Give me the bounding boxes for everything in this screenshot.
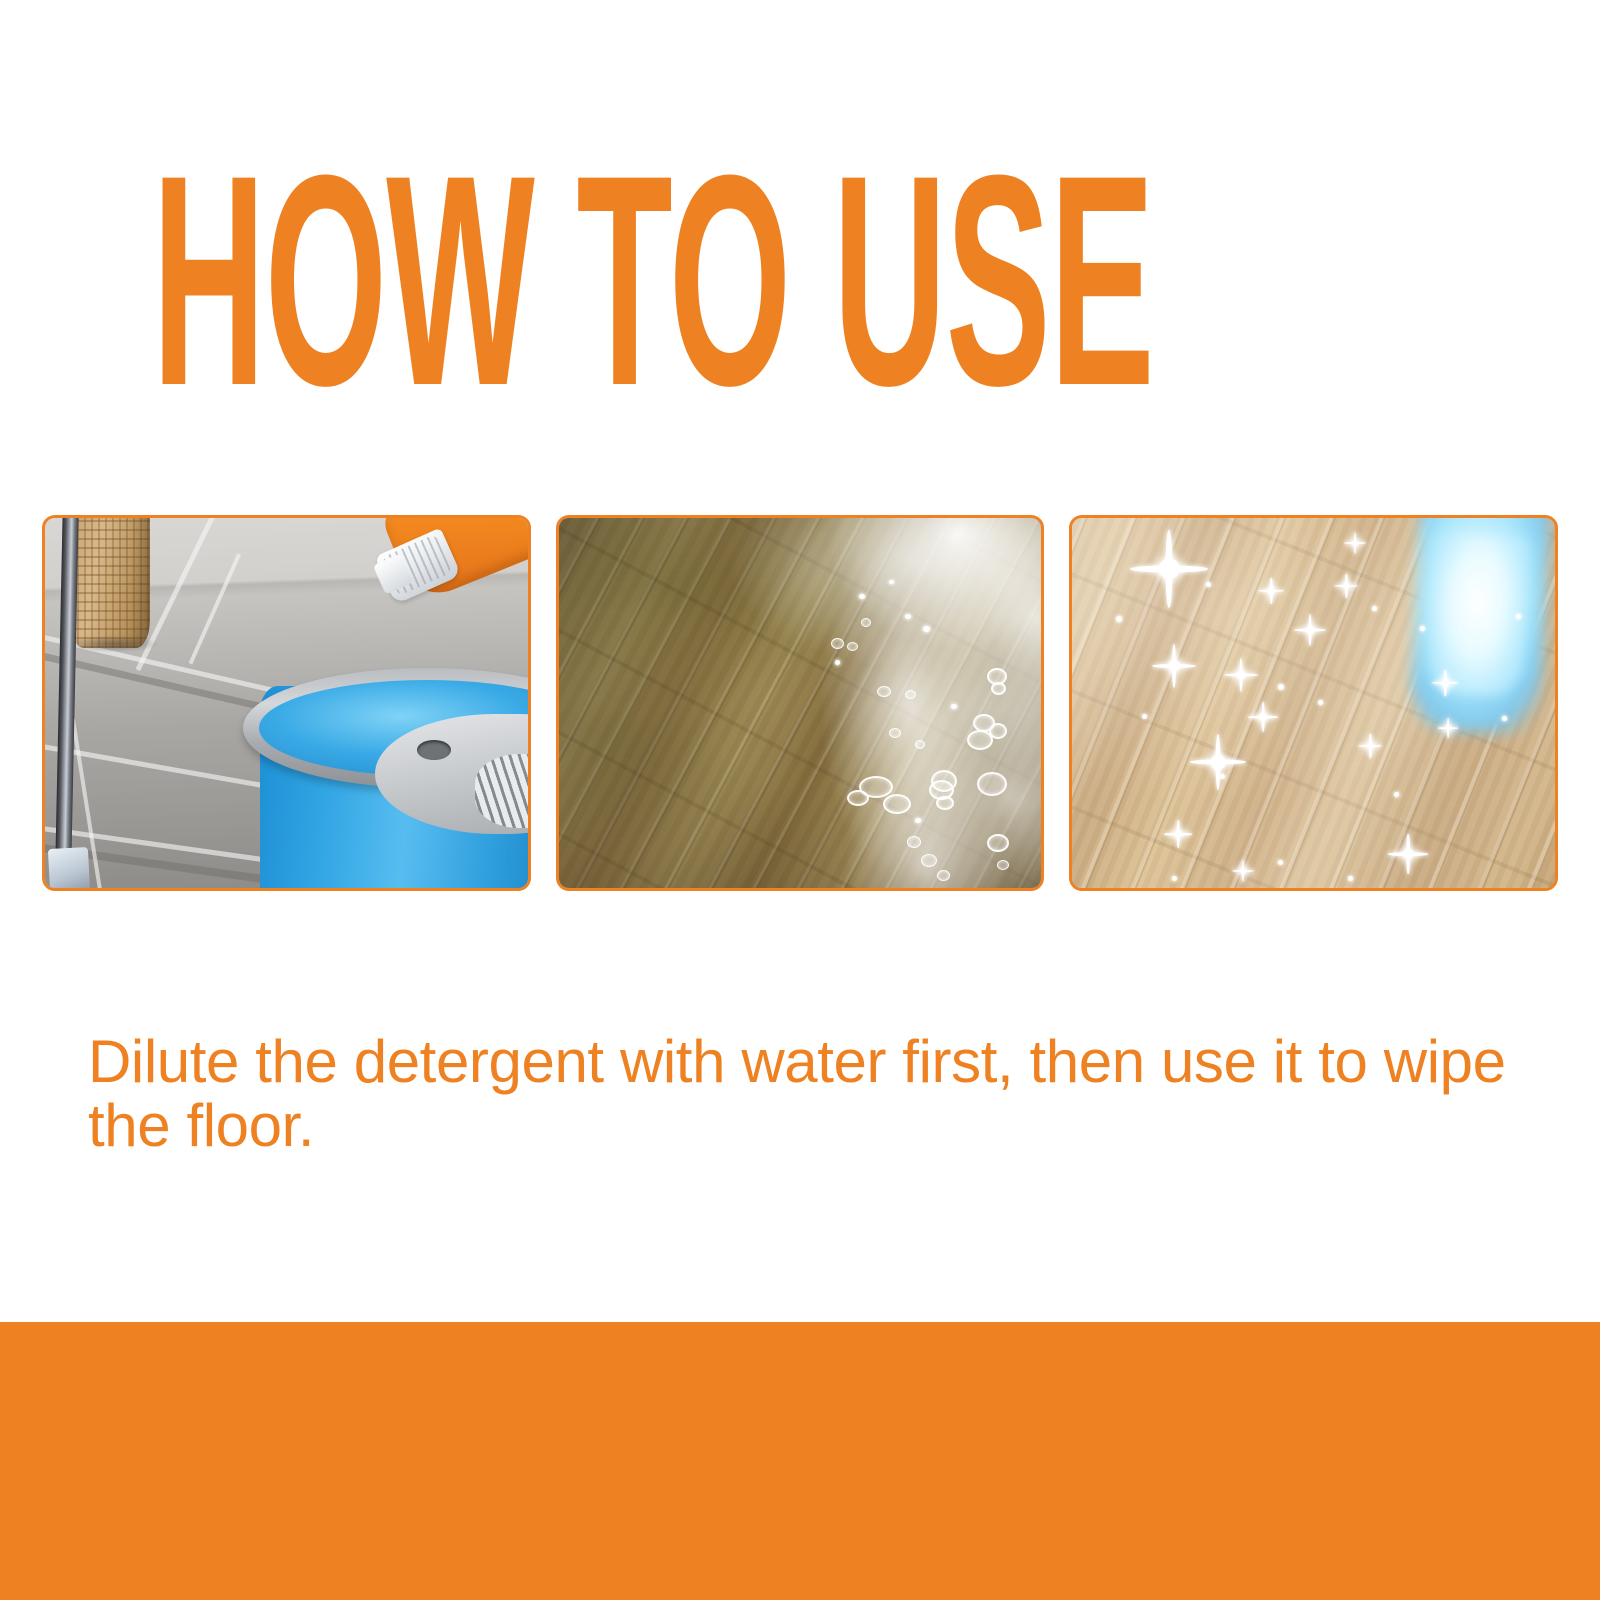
soap-bubble xyxy=(847,642,858,651)
caption-line-1: Dilute the detergent with water first, t… xyxy=(88,1028,1302,1095)
soap-bubble xyxy=(831,638,844,649)
soap-bubble xyxy=(936,796,954,810)
soap-speck xyxy=(905,614,911,619)
gallery-panel-2 xyxy=(556,515,1045,891)
basket-shadow xyxy=(67,636,159,652)
soap-bubble xyxy=(907,836,921,848)
soap-bubble xyxy=(877,686,891,697)
soap-speck xyxy=(951,704,957,709)
soap-bubble xyxy=(987,834,1009,852)
mop-handle-base xyxy=(48,847,90,888)
soap-bubble xyxy=(931,770,957,792)
light-reflection-core xyxy=(1429,534,1529,697)
soap-bubble xyxy=(889,728,901,738)
soap-speck xyxy=(923,626,930,632)
spinner-hole xyxy=(417,740,451,760)
bottom-accent-bar xyxy=(0,1322,1600,1600)
soap-bubble xyxy=(977,772,1007,796)
soap-bubble xyxy=(861,618,871,627)
soap-bubble xyxy=(847,790,869,806)
soap-foam xyxy=(752,518,1042,888)
soap-bubble xyxy=(921,854,937,867)
caption: Dilute the detergent with water first, t… xyxy=(88,1030,1508,1158)
soap-speck xyxy=(859,594,865,599)
soap-bubble xyxy=(989,723,1007,739)
soap-bubble xyxy=(937,870,950,881)
soap-speck xyxy=(889,580,894,584)
bucket-with-detergent-photo xyxy=(45,518,528,888)
foamy-wood-floor-photo xyxy=(559,518,1042,888)
gallery-panel-3 xyxy=(1069,515,1558,891)
steps-gallery xyxy=(42,515,1558,891)
sparkling-clean-floor-photo xyxy=(1072,518,1555,888)
soap-bubble xyxy=(991,682,1006,695)
soap-bubble xyxy=(883,794,911,814)
wicker-basket xyxy=(70,518,150,648)
soap-bubble xyxy=(905,690,916,699)
page-title: HOW TO USE xyxy=(152,150,834,410)
soap-speck xyxy=(835,660,840,665)
how-to-use-infographic: HOW TO USE xyxy=(0,0,1600,1600)
soap-bubble xyxy=(997,860,1009,870)
gallery-panel-1 xyxy=(42,515,531,891)
soap-speck xyxy=(915,818,921,823)
soap-bubble xyxy=(915,740,925,749)
